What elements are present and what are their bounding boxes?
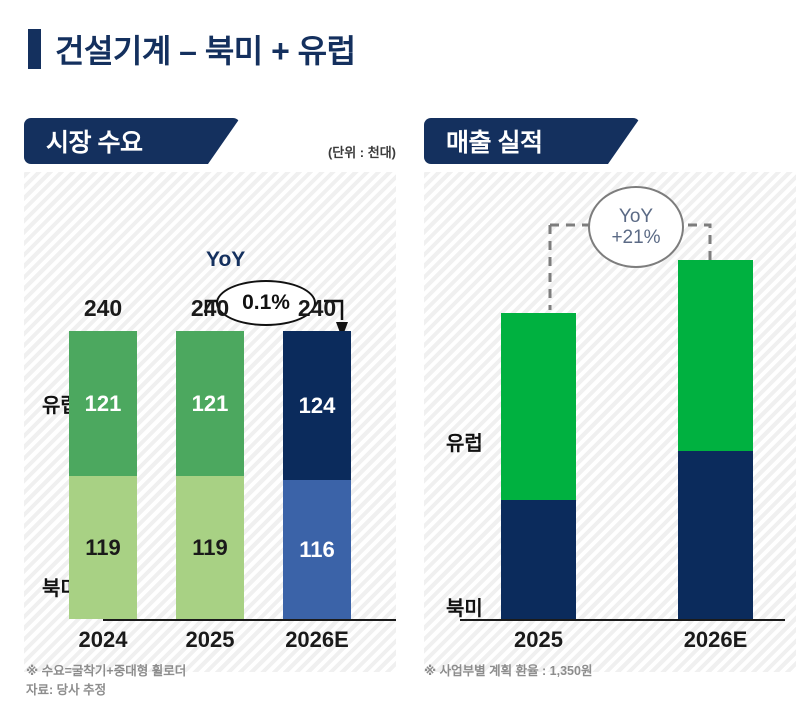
bar-column-2026e[interactable]: 240 124 116 2026E <box>283 331 351 619</box>
unit-label: (단위 : 천대) <box>328 142 396 161</box>
bar-column-2026e[interactable]: 2026E <box>678 260 753 619</box>
bar-segment-north-america-2026e: 116 <box>283 480 351 619</box>
yoy-badge-right-value: +21% <box>611 227 660 248</box>
footnote-left: ※ 수요=굴착기+중대형 휠로더 자료: 당사 추정 <box>26 662 186 701</box>
x-axis-line-right <box>460 619 785 621</box>
title-accent-bar <box>28 29 41 69</box>
bar-segment-europe-2024: 121 <box>69 331 137 476</box>
x-tick-2026e: 2026E <box>269 627 365 653</box>
footnote-right-line1: ※ 사업부별 계획 환율 : 1,350원 <box>424 662 592 681</box>
region-label-north-america: 북미 <box>446 592 483 621</box>
bar-segment-europe-2025 <box>501 313 576 500</box>
bar-segment-europe-2026e <box>678 260 753 451</box>
panel-header-label: 매출 실적 <box>424 123 542 159</box>
bar-total-2025: 240 <box>176 295 244 322</box>
x-tick-2026e: 2026E <box>664 627 767 653</box>
bar-segment-north-america-2024: 119 <box>69 476 137 619</box>
bar-segment-north-america-2025 <box>501 500 576 619</box>
bar-segment-north-america-2026e <box>678 451 753 619</box>
bar-column-2025[interactable]: 2025 <box>501 313 576 619</box>
bar-segment-europe-2025: 121 <box>176 331 244 476</box>
bar-total-2024: 240 <box>69 295 137 322</box>
footnote-left-line1: ※ 수요=굴착기+중대형 휠로더 <box>26 662 186 681</box>
panel-market-demand: 시장 수요 (단위 : 천대) 유럽 북미 YoY 0.1% 240 121 1… <box>24 118 396 672</box>
chart-sales-performance: 유럽 북미 YoY +21% 2025 2026E <box>424 172 796 672</box>
panel-sales-performance: 매출 실적 유럽 북미 YoY +21% 2025 2026E <box>424 118 796 672</box>
chart-market-demand: 유럽 북미 YoY 0.1% 240 121 119 2024 240 121 … <box>24 172 396 672</box>
footnote-left-line2: 자료: 당사 추정 <box>26 681 186 700</box>
bar-total-2026e: 240 <box>283 295 351 322</box>
page-title-row: 건설기계 – 북미 + 유럽 <box>28 26 356 72</box>
yoy-badge-right-title: YoY <box>619 206 653 227</box>
x-tick-2025: 2025 <box>162 627 258 653</box>
bar-segment-north-america-2025: 119 <box>176 476 244 619</box>
panel-header-sales-performance: 매출 실적 <box>424 118 640 164</box>
bar-column-2024[interactable]: 240 121 119 2024 <box>69 331 137 619</box>
bar-segment-europe-2026e: 124 <box>283 331 351 480</box>
footnote-right: ※ 사업부별 계획 환율 : 1,350원 <box>424 662 592 681</box>
bar-column-2025[interactable]: 240 121 119 2025 <box>176 331 244 619</box>
panel-header-market-demand: 시장 수요 <box>24 118 240 164</box>
yoy-badge-right: YoY +21% <box>588 186 684 268</box>
x-tick-2024: 2024 <box>55 627 151 653</box>
x-tick-2025: 2025 <box>487 627 590 653</box>
panel-header-label: 시장 수요 <box>24 123 142 159</box>
region-label-europe: 유럽 <box>446 427 483 456</box>
x-axis-line-left <box>103 619 396 621</box>
yoy-title-left: YoY <box>206 248 245 272</box>
page-title: 건설기계 – 북미 + 유럽 <box>55 26 356 72</box>
